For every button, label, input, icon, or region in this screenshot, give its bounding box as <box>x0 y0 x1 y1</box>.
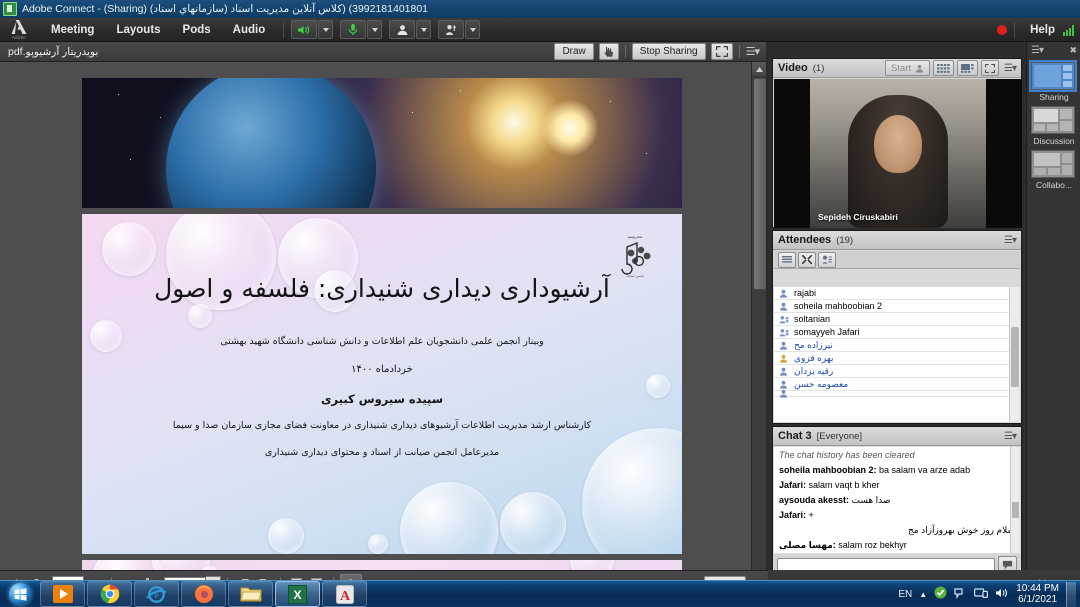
windows-start-button[interactable] <box>0 582 40 607</box>
grid-view-icon <box>937 64 950 73</box>
show-desktop-button[interactable] <box>1066 582 1076 607</box>
speaker-volume-button[interactable] <box>291 20 317 39</box>
taskbar-firefox[interactable] <box>181 581 226 607</box>
chrome-icon <box>100 584 120 604</box>
start-webcam-button[interactable]: Start <box>885 60 930 76</box>
layout-rail: ☰▾ ✖ SharingDiscussionCollabo... <box>1026 42 1080 570</box>
video-participant-name: Sepideh Ciruskabiri <box>818 212 898 222</box>
attendee-name: بهره قزوی <box>794 353 834 364</box>
chat-pod-menu-icon[interactable]: ☰▾ <box>1004 431 1016 442</box>
chat-message: Jafari: + <box>779 510 1015 521</box>
excel-icon: X <box>288 585 307 604</box>
pdf-slide-2: فلسفه و اصول آرشیوداری دیداری شنیداری <box>82 560 682 570</box>
chat-scrollbar-thumb[interactable] <box>1012 502 1019 518</box>
svg-text:e: e <box>154 590 159 601</box>
attendees-list[interactable]: rajabisoheila mahboobian 2soltaniansomay… <box>774 287 1020 422</box>
help-button[interactable]: Help <box>1022 21 1063 39</box>
layout-item-sharing[interactable]: Sharing <box>1031 62 1077 102</box>
chat-pod-title: Chat 3 <box>778 430 812 442</box>
clock-time: 10:44 PM <box>1016 583 1059 594</box>
attendees-toolbar <box>774 251 1020 269</box>
layout-thumbnail <box>1031 62 1075 90</box>
chat-message-author: aysouda akesst: <box>779 495 852 505</box>
attendee-role-icon <box>779 302 788 311</box>
taskbar-clock[interactable]: 10:44 PM 6/1/2021 <box>1016 583 1059 605</box>
menu-divider <box>283 22 284 38</box>
attendee-role-icon <box>779 380 788 389</box>
taskbar-chrome[interactable] <box>87 581 132 607</box>
attendees-pod-header: Attendees (19) ☰▾ <box>773 231 1021 250</box>
slide-banner-image <box>82 78 682 208</box>
action-center-icon[interactable] <box>974 587 988 602</box>
chat-message: soheila mahboobian 2: ba salam va arze a… <box>779 465 1015 476</box>
pointer-button[interactable] <box>599 43 619 60</box>
chat-scrollbar[interactable] <box>1010 447 1020 553</box>
attendee-row[interactable]: بهره قزوی <box>774 352 1020 365</box>
window-title-bar: 3992181401801) (كلاس آنلاين مديريت اسناد… <box>0 0 1080 18</box>
menu-divider-2 <box>1014 22 1015 38</box>
sun-glow <box>542 100 598 156</box>
attendee-role-icon <box>779 367 788 376</box>
menu-item-meeting[interactable]: Meeting <box>40 21 105 39</box>
webcam-person-icon <box>915 64 924 73</box>
share-scrollbar[interactable] <box>751 62 766 570</box>
video-pod-menu-icon[interactable]: ☰▾ <box>1004 63 1016 74</box>
scrollbar-thumb[interactable] <box>753 78 766 290</box>
attendee-name: معصومه حسن <box>794 379 848 390</box>
windows-taskbar: e X A EN ▲ 10:44 PM 6/1/2021 <box>0 580 1080 607</box>
video-pod-title: Video <box>778 62 808 74</box>
raise-hand-button[interactable] <box>438 20 464 39</box>
svg-text:A: A <box>339 589 350 604</box>
attendee-row[interactable]: soheila mahboobian 2 <box>774 300 1020 313</box>
filmstrip-view-icon <box>961 64 974 73</box>
scroll-up-button[interactable] <box>752 62 766 77</box>
video-feed[interactable]: Sepideh Ciruskabiri <box>774 79 1022 228</box>
attendees-scrollbar[interactable] <box>1009 287 1020 422</box>
chat-message-author: soheila mahboobian 2: <box>779 465 879 475</box>
share-pod-header: بویدریتار آرشیوپو.pdf Draw Stop Sharing … <box>0 42 766 62</box>
breakout-rooms-button[interactable] <box>798 252 816 268</box>
chat-message: مهسا مصلی: salam roz bekhyr <box>779 540 1015 551</box>
layout-label: Collabo... <box>1031 180 1077 190</box>
taskbar-adobe-reader[interactable]: A <box>322 581 367 607</box>
system-tray: EN ▲ 10:44 PM 6/1/2021 <box>898 582 1080 607</box>
layout-label: Discussion <box>1031 136 1077 146</box>
list-view-icon <box>782 256 792 264</box>
attendee-name: نیرزاده مح <box>794 340 833 351</box>
chat-pod: Chat 3 [Everyone] ☰▾ The chat history ha… <box>772 426 1022 578</box>
excel-document-icon <box>3 2 17 16</box>
chevron-down-icon <box>421 28 427 32</box>
attendees-scrollbar-thumb[interactable] <box>1011 327 1019 387</box>
slide-subtitle: وبینار انجمن علمی دانشجویان علم اطلاعات … <box>82 336 682 347</box>
layout-rail-menu-icon[interactable]: ☰▾ <box>1031 45 1043 56</box>
chat-bubble-icon <box>1002 560 1013 570</box>
volume-icon[interactable] <box>995 587 1009 602</box>
participant-silhouette <box>848 95 948 228</box>
attendee-role-icon <box>779 289 788 298</box>
webcam-dropdown-button[interactable] <box>416 20 431 39</box>
chat-pod-scope: [Everyone] <box>817 431 862 442</box>
speaker-icon <box>297 24 311 36</box>
list-view-button[interactable] <box>778 252 796 268</box>
layout-label: Sharing <box>1031 92 1077 102</box>
attendee-role-icon <box>779 328 788 337</box>
window-title: 3992181401801) (كلاس آنلاين مديريت اسناد… <box>22 3 428 15</box>
show-hidden-icons-button[interactable]: ▲ <box>919 590 927 599</box>
raise-hand-icon <box>445 24 458 36</box>
microphone-dropdown-button[interactable] <box>367 20 382 39</box>
attendee-role-icon <box>779 389 788 398</box>
svg-text:شعرومیه: شعرومیه <box>628 234 644 239</box>
menu-item-audio[interactable]: Audio <box>222 21 277 39</box>
speaker-dropdown-button[interactable] <box>318 20 333 39</box>
layout-thumbnail <box>1031 106 1075 134</box>
chat-message: سلام روز خوش بهروزآزاد مج <box>779 525 1015 536</box>
internet-explorer-icon: e <box>146 585 167 604</box>
chevron-down-icon <box>470 28 476 32</box>
fullscreen-button[interactable] <box>711 43 733 60</box>
attendee-name: rajabi <box>794 288 816 298</box>
right-pod-column: Video (1) Start ☰▾ <box>768 42 1026 570</box>
attendee-role-icon <box>779 315 788 324</box>
attendee-row[interactable] <box>774 391 1020 397</box>
chat-message-text: صدا هست <box>852 495 891 505</box>
media-player-icon <box>52 584 74 604</box>
raise-hand-dropdown-button[interactable] <box>465 20 480 39</box>
chat-message-author: Jafari: <box>779 480 809 490</box>
chat-message-author: مهسا مصلی: <box>779 540 838 550</box>
shared-document-name: بویدریتار آرشیوپو.pdf <box>0 46 106 58</box>
chat-message: aysouda akesst: صدا هست <box>779 495 1015 506</box>
menu-item-pods[interactable]: Pods <box>172 21 222 39</box>
chat-system-message: The chat history has been cleared <box>779 450 1015 461</box>
slide-title: آرشیوداری دیداری شنیداری: فلسفه و اصول <box>82 274 682 303</box>
chat-message-text: ba salam va arze adab <box>879 465 970 475</box>
chat-message-text: سلام روز خوش بهروزآزاد مج <box>908 525 1015 535</box>
windows-start-orb <box>9 583 31 605</box>
webcam-person-icon <box>396 24 409 36</box>
clock-date: 6/1/2021 <box>1016 594 1059 605</box>
breakout-rooms-icon <box>802 255 812 264</box>
attendee-name: رقیه یزدان <box>794 366 833 377</box>
attendees-pod-title: Attendees <box>778 234 831 246</box>
microphone-button[interactable] <box>340 20 366 39</box>
chat-message-author: Jafari: <box>779 510 809 520</box>
attendee-name: soheila mahboobian 2 <box>794 301 882 311</box>
attendee-row[interactable]: معصومه حسن <box>774 378 1020 391</box>
security-shield-icon[interactable] <box>934 586 947 602</box>
slide-presenter-name: سپیده سیروس کبیری <box>82 392 682 406</box>
fullscreen-icon <box>716 46 728 57</box>
video-fullscreen-button[interactable] <box>981 60 999 76</box>
chat-message-text: + <box>809 510 814 520</box>
taskbar-internet-explorer[interactable]: e <box>134 581 179 607</box>
grid-view-button[interactable] <box>933 60 954 76</box>
layout-item-collabo[interactable]: Collabo... <box>1031 150 1077 190</box>
attendee-role-icon <box>779 354 788 363</box>
chat-message-text: salam roz bekhyr <box>838 540 907 550</box>
attendee-status-icon <box>822 255 832 264</box>
layout-item-discussion[interactable]: Discussion <box>1031 106 1077 146</box>
attendee-row[interactable]: rajabi <box>774 287 1020 300</box>
pointer-hand-icon <box>604 46 614 57</box>
chat-message-text: salam vaqt b kher <box>809 480 880 490</box>
webcam-button[interactable] <box>389 20 415 39</box>
attendee-row[interactable]: somayyeh Jafari <box>774 326 1020 339</box>
network-icon[interactable] <box>954 587 967 602</box>
filmstrip-view-button[interactable] <box>957 60 978 76</box>
layout-thumbnail <box>1031 150 1075 178</box>
share-divider-2 <box>739 45 740 58</box>
svg-text:X: X <box>293 588 301 602</box>
adobe-connect-window: Adobe Meeting Layouts Pods Audio Help <box>0 18 1080 580</box>
slide-presenter-role-2: مدیرعامل انجمن صیانت از اسناد و محتوای د… <box>82 447 682 458</box>
video-pod-header: Video (1) Start ☰▾ <box>773 59 1021 78</box>
draw-button[interactable]: Draw <box>554 43 593 60</box>
attendee-row[interactable]: soltanian <box>774 313 1020 326</box>
microphone-icon <box>347 23 359 36</box>
taskbar-excel[interactable]: X <box>275 581 320 607</box>
menu-bar: Adobe Meeting Layouts Pods Audio Help <box>0 18 1080 42</box>
share-pod-body: شعرومیه انجمن صیانت آرشیوداری دیداری شنی… <box>0 62 766 570</box>
adobe-reader-icon: A <box>336 585 354 604</box>
chat-pod-header: Chat 3 [Everyone] ☰▾ <box>773 427 1021 446</box>
share-pod-menu-icon[interactable]: ☰▾ <box>746 45 759 58</box>
file-explorer-icon <box>240 585 262 603</box>
layout-rail-header: ☰▾ ✖ <box>1027 42 1080 58</box>
menu-item-layouts[interactable]: Layouts <box>105 21 171 39</box>
taskbar-media-player[interactable] <box>40 581 85 607</box>
attendee-row[interactable]: نیرزاده مح <box>774 339 1020 352</box>
chat-message: Jafari: salam vaqt b kher <box>779 480 1015 491</box>
adobe-logo: Adobe <box>6 19 32 41</box>
layout-rail-close-icon[interactable]: ✖ <box>1069 45 1077 56</box>
video-pod-count: (1) <box>813 63 825 74</box>
language-indicator[interactable]: EN <box>898 589 912 600</box>
pdf-slide-1: شعرومیه انجمن صیانت آرشیوداری دیداری شنی… <box>82 214 682 554</box>
slide-presenter-role-1: کارشناس ارشد مدیریت اطلاعات آرشیوهای دید… <box>82 420 682 431</box>
chat-message-list[interactable]: The chat history has been clearedsoheila… <box>774 447 1020 553</box>
chevron-down-icon <box>323 28 329 32</box>
video-pod: Video (1) Start ☰▾ <box>772 58 1022 228</box>
attendees-pod: Attendees (19) ☰▾ rajabisoheila mahboobi… <box>772 230 1022 424</box>
slide-date: خردادماه ۱۴۰۰ <box>82 364 682 375</box>
attendees-count: (19) <box>836 235 853 246</box>
webcam-frame <box>810 79 986 228</box>
attendees-pod-menu-icon[interactable]: ☰▾ <box>1004 235 1016 246</box>
fullscreen-icon <box>985 64 995 73</box>
pdf-page-area: شعرومیه انجمن صیانت آرشیوداری دیداری شنی… <box>82 62 682 570</box>
attendee-role-icon <box>779 341 788 350</box>
attendee-name: somayyeh Jafari <box>794 327 860 337</box>
signal-bars-icon <box>1063 24 1074 36</box>
chevron-down-icon <box>372 28 378 32</box>
layout-list: SharingDiscussionCollabo... <box>1027 62 1080 190</box>
attendee-row[interactable]: رقیه یزدان <box>774 365 1020 378</box>
planet-earth <box>166 78 376 208</box>
attendee-name: soltanian <box>794 314 830 324</box>
participant-face <box>874 115 922 173</box>
stop-sharing-button[interactable]: Stop Sharing <box>632 43 706 60</box>
share-divider <box>625 45 626 58</box>
attendee-status-button[interactable] <box>818 252 836 268</box>
chat-message-text: The chat history has been cleared <box>779 450 915 460</box>
recording-indicator <box>997 25 1007 35</box>
firefox-icon <box>194 584 214 604</box>
taskbar-file-explorer[interactable] <box>228 581 273 607</box>
